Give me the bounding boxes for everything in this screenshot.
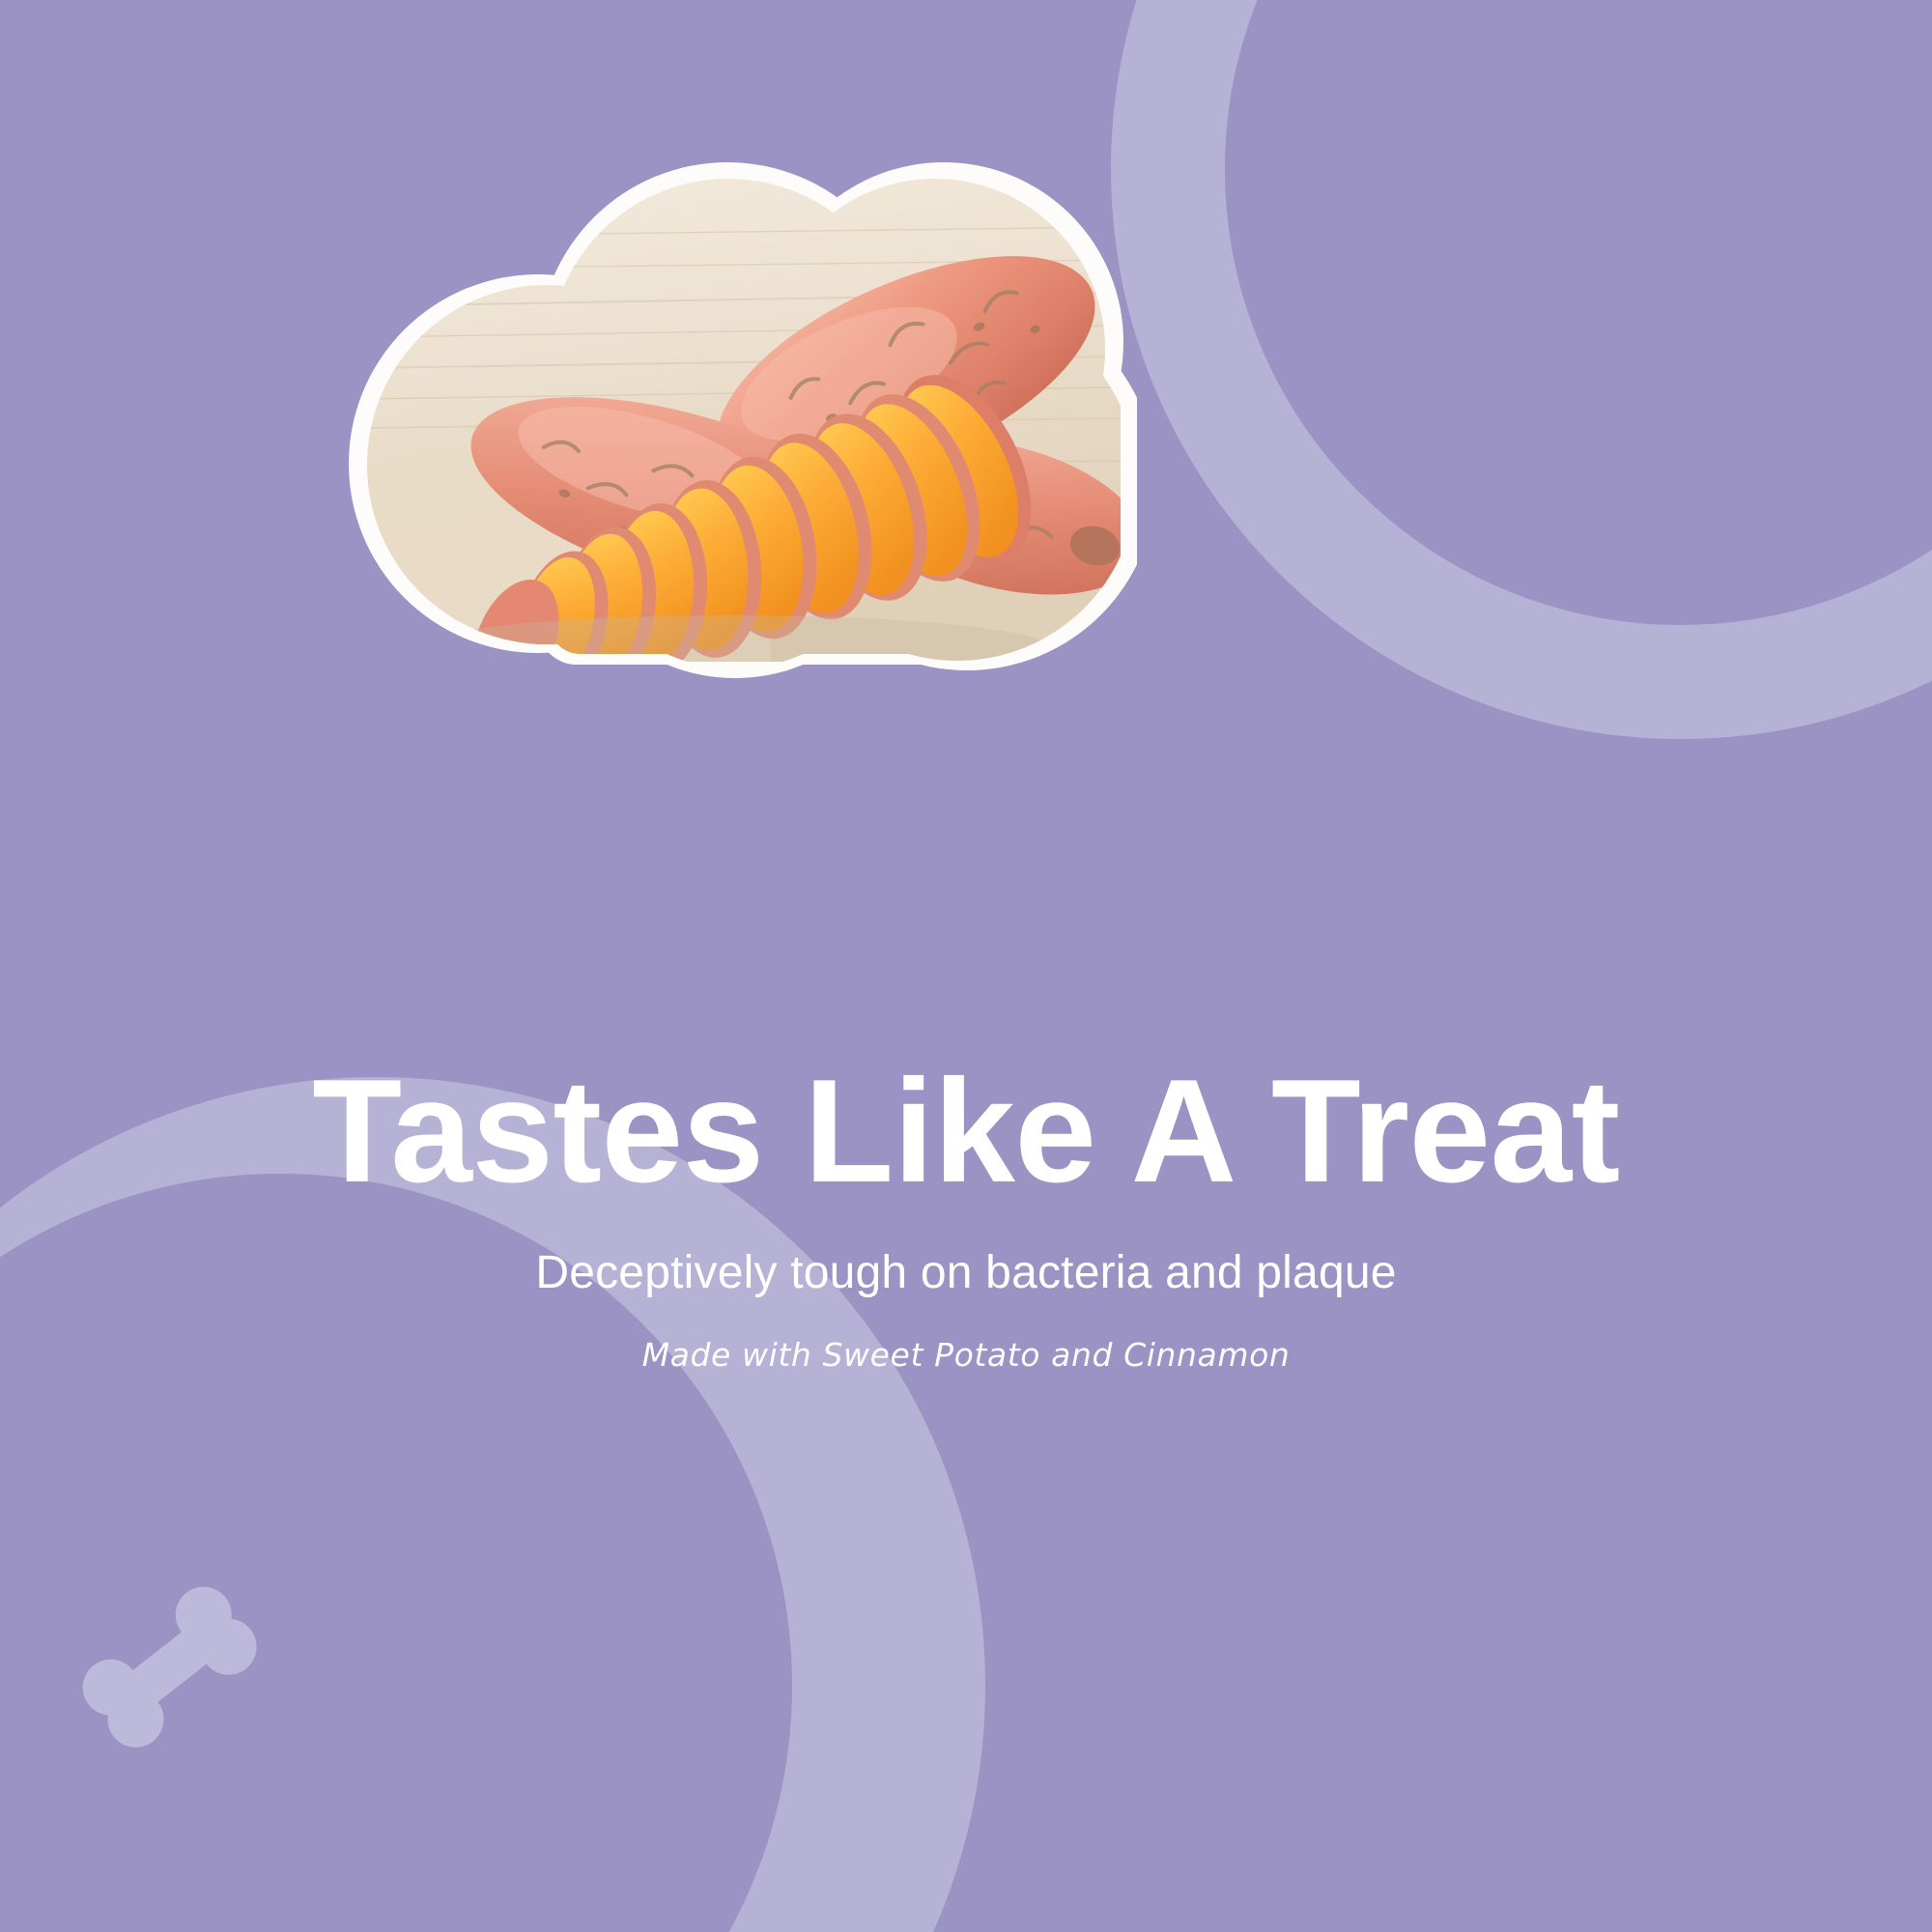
hero-image-frame [365,179,1121,662]
dog-bone-icon [58,1555,280,1777]
poster-canvas: Tastes Like A Treat Deceptively tough on… [0,0,1932,1932]
subheadline: Deceptively tough on bacteria and plaque [0,1205,1932,1301]
copy-block: Tastes Like A Treat Deceptively tough on… [0,1058,1932,1374]
hero-photo [365,179,1121,662]
arc-ring-top-right-icon [1111,0,1932,739]
page-title: Tastes Like A Treat [0,1058,1932,1205]
ingredient-tagline: Made with Sweet Potato and Cinnamon [0,1301,1932,1375]
